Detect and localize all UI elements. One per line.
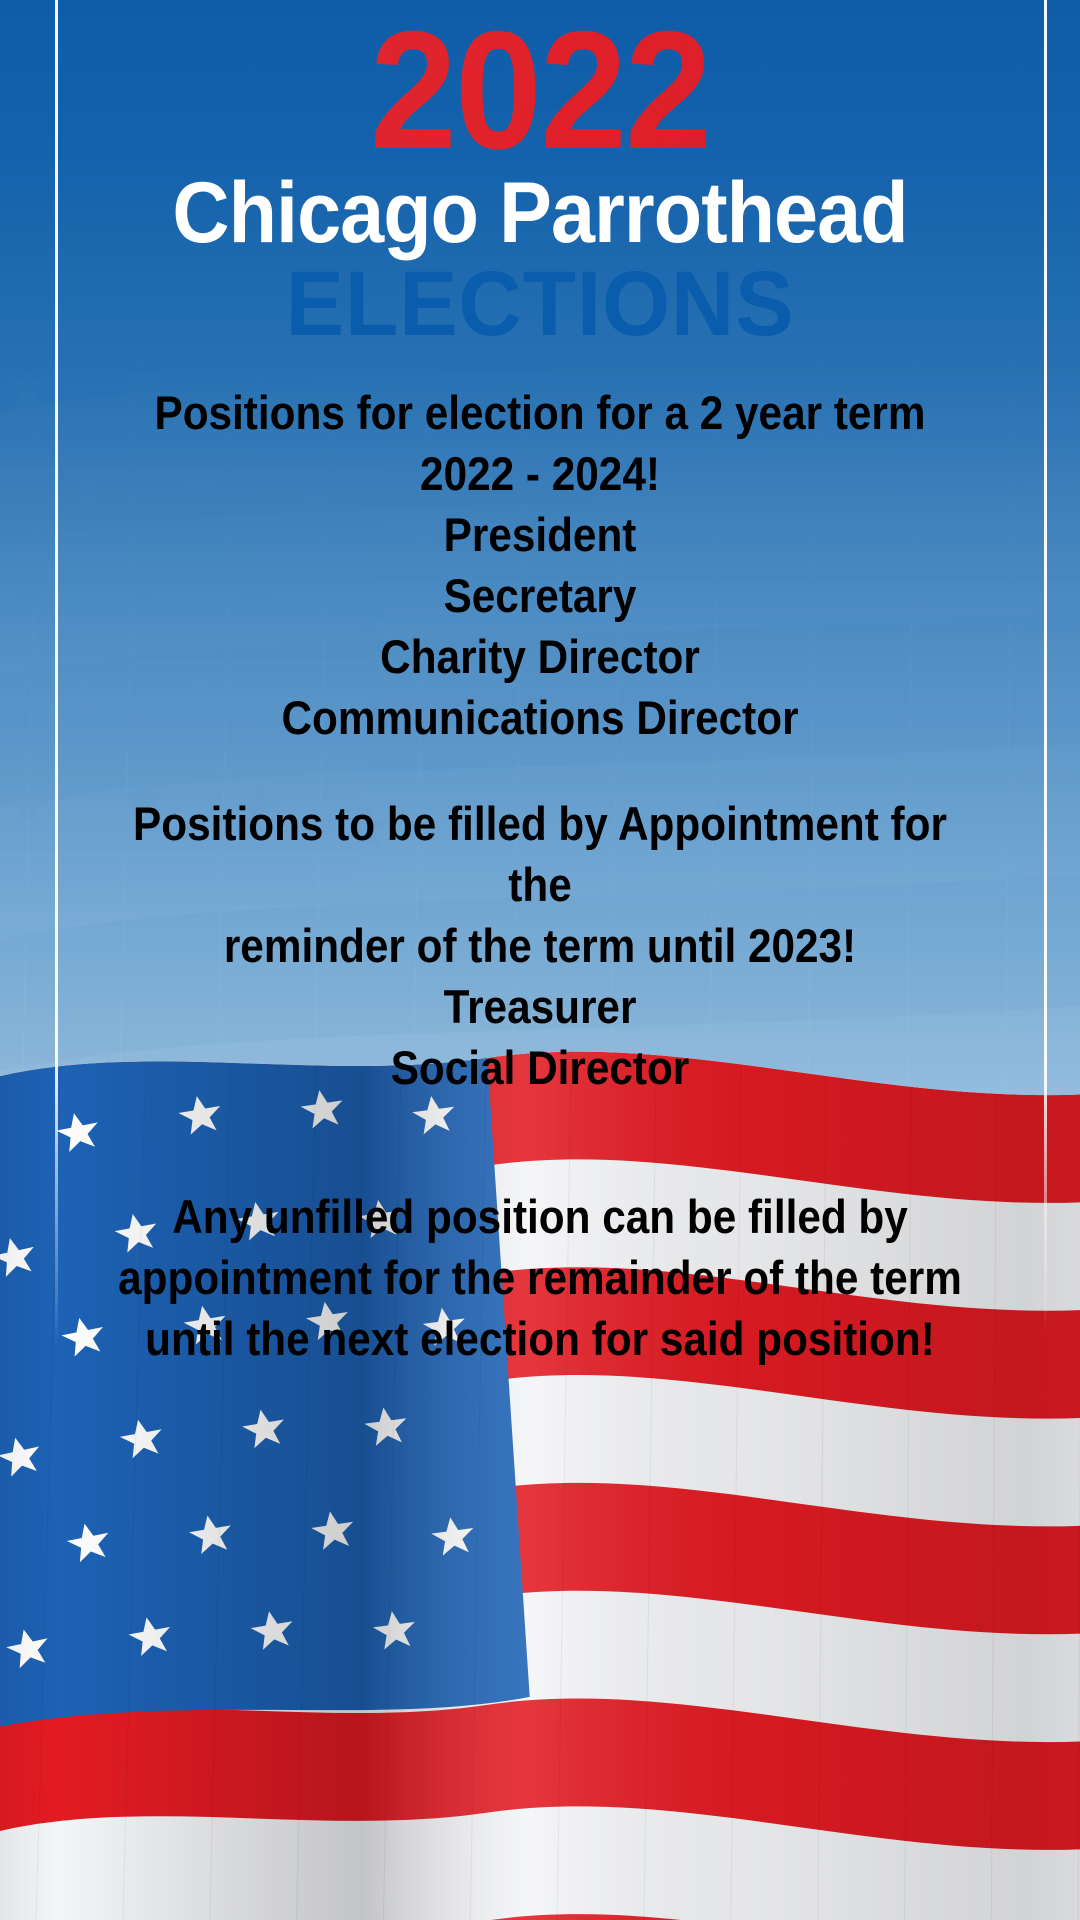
poster-content: 2022 Chicago Parrothead ELECTIONS Positi… [0, 0, 1080, 1920]
poster-body: Positions for election for a 2 year term… [117, 382, 963, 1369]
footer-line-3: until the next election for said positio… [117, 1308, 963, 1369]
elected-position-communications-director: Communications Director [117, 687, 963, 748]
section-gap-1 [117, 749, 963, 793]
elected-position-charity-director: Charity Director [117, 626, 963, 687]
appointed-intro-line-2: reminder of the term until 2023! [117, 915, 963, 976]
footer-line-1: Any unfilled position can be filled by [117, 1186, 963, 1247]
footer-line-2: appointment for the remainder of the ter… [117, 1247, 963, 1308]
elected-intro-line-2: 2022 - 2024! [117, 443, 963, 504]
section-gap-3 [117, 1142, 963, 1186]
elected-intro-line-1: Positions for election for a 2 year term [117, 382, 963, 443]
appointed-intro-line-1: Positions to be filled by Appointment fo… [117, 793, 963, 915]
appointed-position-social-director: Social Director [117, 1037, 963, 1098]
elected-position-secretary: Secretary [117, 565, 963, 626]
elected-position-president: President [117, 504, 963, 565]
elections-heading: ELECTIONS [27, 258, 1053, 350]
section-gap-2 [117, 1098, 963, 1142]
year-heading: 2022 [38, 6, 1042, 174]
election-poster: 2022 Chicago Parrothead ELECTIONS Positi… [0, 0, 1080, 1920]
club-heading: Chicago Parrothead [43, 170, 1037, 256]
appointed-position-treasurer: Treasurer [117, 976, 963, 1037]
